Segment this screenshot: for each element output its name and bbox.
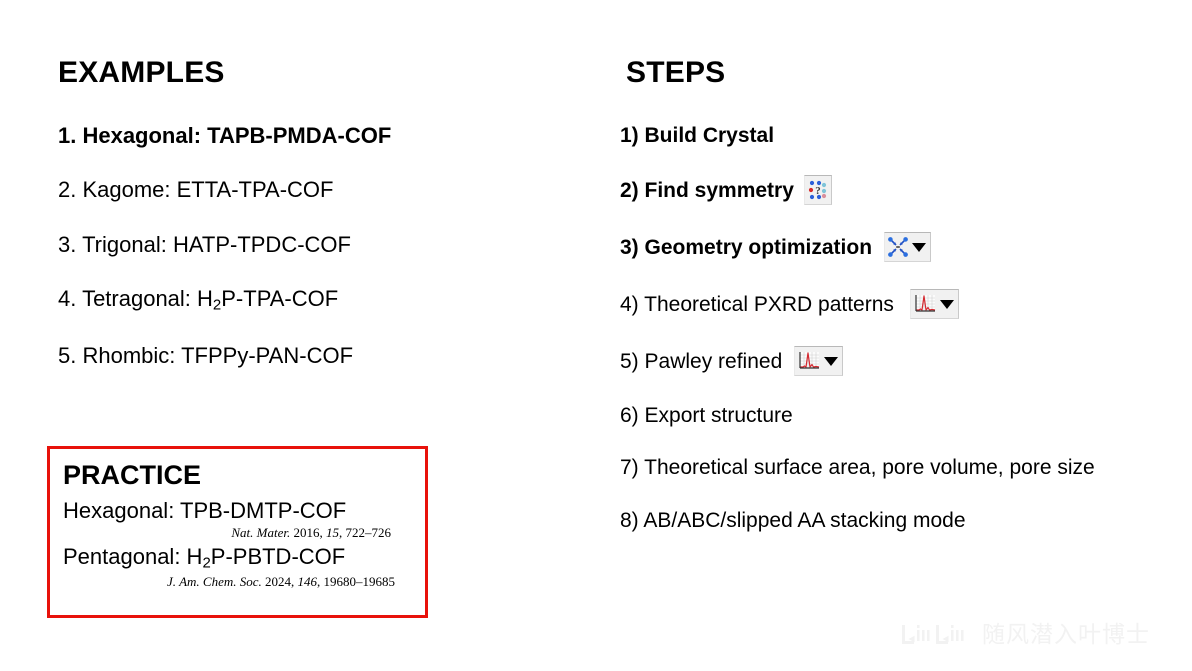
pxrd-chart-icon xyxy=(797,350,821,372)
chevron-down-icon[interactable] xyxy=(824,357,838,366)
step-label: 8) AB/ABC/slipped AA stacking mode xyxy=(620,508,966,533)
step-item-surface-area: 7) Theoretical surface area, pore volume… xyxy=(620,455,1180,480)
citation-journal: Nat. Mater. xyxy=(231,525,290,540)
step-item-theoretical-pxrd: 4) Theoretical PXRD patterns xyxy=(620,289,1180,319)
find-symmetry-tool-button[interactable]: ? xyxy=(804,175,832,205)
svg-text:?: ? xyxy=(815,185,821,197)
practice-label-prefix: Pentagonal: H xyxy=(63,544,202,569)
symmetry-icon: ? xyxy=(807,179,829,201)
example-item-hexagonal: 1. Hexagonal: TAPB-PMDA-COF xyxy=(58,123,558,149)
example-item-trigonal: 3. Trigonal: HATP-TPDC-COF xyxy=(58,232,558,258)
chevron-down-icon[interactable] xyxy=(940,300,954,309)
citation-journal: J. Am. Chem. Soc. xyxy=(167,574,262,589)
step-label: 2) Find symmetry xyxy=(620,178,794,203)
step-item-stacking-mode: 8) AB/ABC/slipped AA stacking mode xyxy=(620,508,1180,533)
step-label: 6) Export structure xyxy=(620,403,793,428)
practice-label-suffix: P-PBTD-COF xyxy=(211,544,345,569)
watermark-text: 随风潜入叶博士 xyxy=(982,624,1150,647)
citation-year: 2016, xyxy=(294,525,323,540)
step-label: 7) Theoretical surface area, pore volume… xyxy=(620,455,1095,480)
geometry-optimization-icon xyxy=(887,236,909,258)
citation-pages: , 19680–19685 xyxy=(317,574,395,589)
practice-box: PRACTICE Hexagonal: TPB-DMTP-COF Nat. Ma… xyxy=(47,446,428,618)
step-item-find-symmetry: 2) Find symmetry ? xyxy=(620,175,1180,205)
example-item-rhombic: 5. Rhombic: TFPPy-PAN-COF xyxy=(58,343,558,369)
citation-volume: 15 xyxy=(326,525,339,540)
example-label: 2. Kagome: ETTA-TPA-COF xyxy=(58,177,333,202)
pawley-refined-tool-button[interactable] xyxy=(794,346,843,376)
examples-column: EXAMPLES 1. Hexagonal: TAPB-PMDA-COF 2. … xyxy=(58,56,558,397)
citation-volume: 146 xyxy=(298,574,318,589)
slide-canvas: EXAMPLES 1. Hexagonal: TAPB-PMDA-COF 2. … xyxy=(0,0,1192,671)
example-label: 3. Trigonal: HATP-TPDC-COF xyxy=(58,232,351,257)
citation-nat-mater: Nat. Mater. 2016, 15, 722–726 xyxy=(50,525,391,541)
practice-label: Hexagonal: TPB-DMTP-COF xyxy=(63,498,346,523)
example-subscript: 2 xyxy=(213,297,221,314)
example-label: 1. Hexagonal: TAPB-PMDA-COF xyxy=(58,123,391,148)
step-item-build-crystal: 1) Build Crystal xyxy=(620,123,1180,148)
steps-title: STEPS xyxy=(626,56,1180,89)
example-label: 5. Rhombic: TFPPy-PAN-COF xyxy=(58,343,353,368)
step-label: 1) Build Crystal xyxy=(620,123,774,148)
chevron-down-icon[interactable] xyxy=(912,243,926,252)
steps-column: STEPS 1) Build Crystal 2) Find symmetry … xyxy=(620,56,1180,560)
example-item-tetragonal: 4. Tetragonal: H2P-TPA-COF xyxy=(58,286,558,315)
practice-title: PRACTICE xyxy=(63,461,425,491)
citation-pages: , 722–726 xyxy=(339,525,391,540)
example-label-prefix: 4. Tetragonal: H xyxy=(58,286,213,311)
practice-line-pentagonal: Pentagonal: H2P-PBTD-COF xyxy=(63,543,425,573)
step-label: 3) Geometry optimization xyxy=(620,235,872,260)
example-label-suffix: P-TPA-COF xyxy=(221,286,338,311)
step-label: 4) Theoretical PXRD patterns xyxy=(620,292,894,317)
step-label: 5) Pawley refined xyxy=(620,349,782,374)
theoretical-pxrd-tool-button[interactable] xyxy=(910,289,959,319)
step-item-pawley-refined: 5) Pawley refined xyxy=(620,346,1180,376)
step-item-geometry-optimization: 3) Geometry optimization xyxy=(620,232,1180,262)
citation-year: 2024, xyxy=(265,574,294,589)
example-item-kagome: 2. Kagome: ETTA-TPA-COF xyxy=(58,177,558,203)
citation-jacs: J. Am. Chem. Soc. 2024, 146, 19680–19685 xyxy=(50,574,395,590)
bilibili-logo-icon xyxy=(900,622,972,648)
step-item-export-structure: 6) Export structure xyxy=(620,403,1180,428)
practice-line-hexagonal: Hexagonal: TPB-DMTP-COF xyxy=(63,497,425,525)
examples-title: EXAMPLES xyxy=(58,56,558,89)
watermark: 随风潜入叶博士 xyxy=(900,622,1150,648)
practice-subscript: 2 xyxy=(202,555,210,572)
geometry-optimization-tool-button[interactable] xyxy=(884,232,931,262)
pxrd-chart-icon xyxy=(913,293,937,315)
